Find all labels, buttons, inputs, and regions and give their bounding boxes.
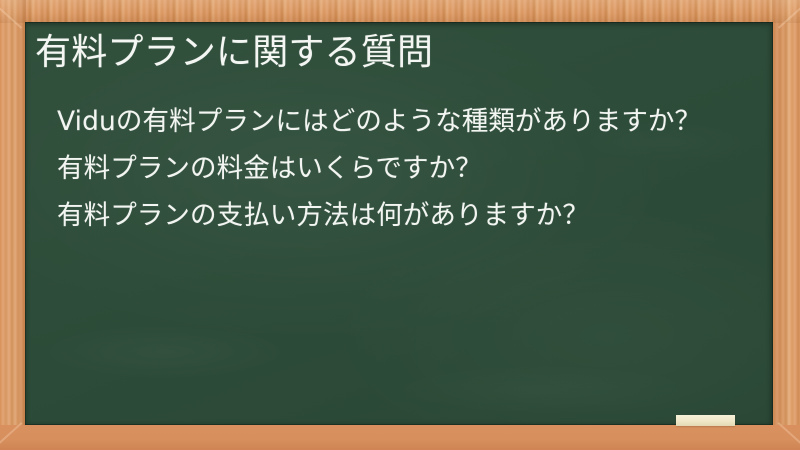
question-list-item-1: Viduの有料プランにはどのような種類がありますか？ xyxy=(57,104,757,140)
slide-title: 有料プランに関する質問 xyxy=(35,30,755,76)
chalk-stick-icon xyxy=(676,415,735,426)
miter-joint-top-right xyxy=(778,0,800,28)
question-list: Viduの有料プランにはどのような種類がありますか？ 有料プランの料金はいくらで… xyxy=(57,104,747,245)
frame-bottom-chalk-ledge xyxy=(0,425,800,450)
chalkboard-wooden-frame: 有料プランに関する質問 Viduの有料プランにはどのような種類がありますか？ 有… xyxy=(0,0,800,450)
question-list-item-2: 有料プランの料金はいくらですか？ xyxy=(57,151,747,187)
miter-joint-top-left xyxy=(0,0,22,28)
miter-joint-bottom-left xyxy=(0,422,22,450)
chalkboard-content: 有料プランに関する質問 Viduの有料プランにはどのような種類がありますか？ 有… xyxy=(25,22,773,425)
miter-joint-bottom-right xyxy=(778,422,800,450)
chalkboard-surface: 有料プランに関する質問 Viduの有料プランにはどのような種類がありますか？ 有… xyxy=(25,22,773,425)
frame-right-rail xyxy=(772,0,800,450)
frame-top-rail xyxy=(0,0,800,23)
question-list-item-3: 有料プランの支払い方法は何がありますか？ xyxy=(57,198,747,234)
frame-left-rail xyxy=(0,0,26,450)
